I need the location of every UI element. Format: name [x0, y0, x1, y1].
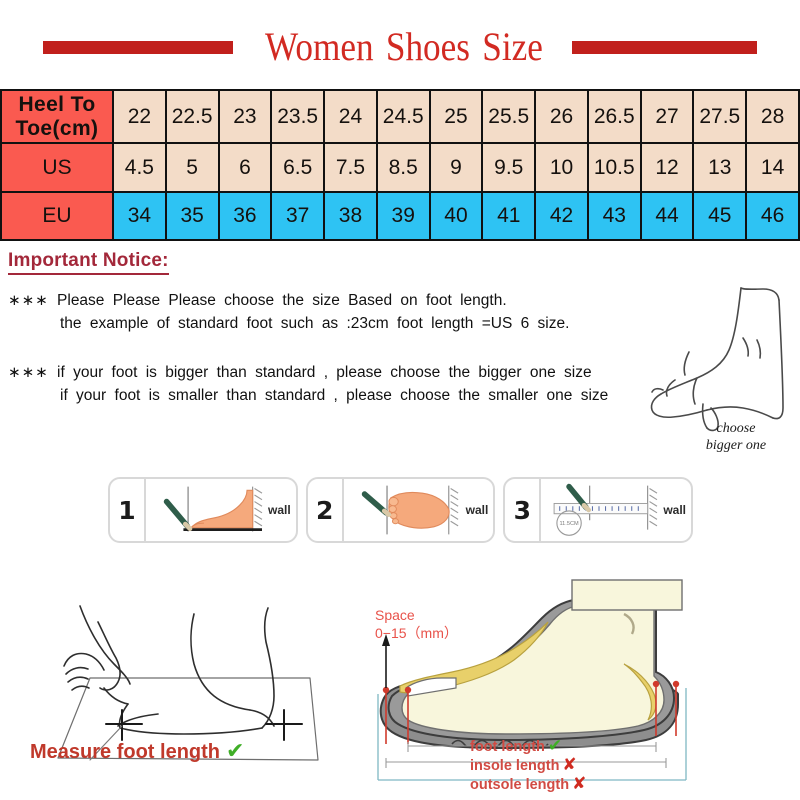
cell-us: 8.5 [377, 143, 430, 192]
cell-cm: 26 [535, 90, 588, 143]
cell-eu: 42 [535, 192, 588, 240]
cell-us: 9.5 [482, 143, 535, 192]
notice-bullet-stars: ∗∗∗ [8, 364, 49, 381]
notice-line: ∗∗∗ if your foot is bigger than standard… [8, 361, 688, 384]
notice-heading: Important Notice: [8, 250, 169, 275]
cell-cm: 28 [746, 90, 799, 143]
legend-label: outsole length [470, 777, 569, 793]
step-3-illustration: 3 [505, 479, 691, 541]
cell-us: 5 [166, 143, 219, 192]
cell-cm: 22.5 [166, 90, 219, 143]
cross-icon: ✘ [562, 755, 576, 774]
cell-us: 10 [535, 143, 588, 192]
caption-line-2: bigger one [706, 438, 766, 453]
notice-text: Please Please Please choose the size Bas… [57, 292, 507, 309]
wall-label: wall [466, 503, 489, 517]
shoe-diagram-legend: foot length✔ insole length✘ outsole leng… [470, 737, 770, 794]
check-icon: ✔ [226, 738, 244, 763]
measurement-steps: 1 wall 2 [108, 477, 693, 543]
row-header-heel-to-toe: Heel To Toe(cm) [1, 90, 113, 143]
cell-eu: 39 [377, 192, 430, 240]
notice-line: ∗∗∗ Please Please Please choose the size… [8, 289, 688, 312]
notice-line: if your foot is smaller than standard , … [8, 384, 688, 407]
title-word-1: Women [265, 24, 374, 69]
step-panel-1: 1 wall [108, 477, 298, 543]
cell-eu: 37 [271, 192, 324, 240]
cell-us: 6.5 [271, 143, 324, 192]
step-number: 2 [308, 479, 344, 541]
wall-label: wall [268, 503, 291, 517]
caption-line-1: choose [717, 421, 756, 436]
check-icon: ✔ [548, 736, 562, 755]
cross-icon: ✘ [572, 774, 586, 793]
cell-cm: 25 [430, 90, 483, 143]
step-number: 3 [505, 479, 541, 541]
cell-eu: 41 [482, 192, 535, 240]
cell-us: 10.5 [588, 143, 641, 192]
row-header-eu: EU [1, 192, 113, 240]
title-rule-left [43, 41, 233, 54]
cell-us: 12 [641, 143, 694, 192]
cell-eu: 36 [219, 192, 272, 240]
title-word-2: Shoes [385, 24, 469, 69]
cell-cm: 25.5 [482, 90, 535, 143]
table-row-eu: EU 34 35 36 37 38 39 40 41 42 43 44 45 4… [1, 192, 799, 240]
notice-bullet-stars: ∗∗∗ [8, 292, 49, 309]
cell-cm: 24.5 [377, 90, 430, 143]
table-row-heel-to-toe: Heel To Toe(cm) 22 22.5 23 23.5 24 24.5 … [1, 90, 799, 143]
measure-caption-text: Measure foot length [30, 741, 220, 763]
space-label-line-2: 0−15（mm） [375, 625, 458, 641]
cell-cm: 27.5 [693, 90, 746, 143]
cell-us: 13 [693, 143, 746, 192]
cell-cm: 22 [113, 90, 166, 143]
cell-eu: 34 [113, 192, 166, 240]
step-panel-2: 2 wall [306, 477, 496, 543]
cell-cm: 24 [324, 90, 377, 143]
notice-text: if your foot is bigger than standard , p… [57, 364, 592, 381]
title-rule-right [572, 41, 757, 54]
ruler-badge-text: 11.5CM [560, 521, 580, 527]
cell-eu: 44 [641, 192, 694, 240]
space-label-line-1: Space [375, 607, 415, 623]
step-1-illustration: wall [146, 479, 296, 541]
cell-eu: 35 [166, 192, 219, 240]
cell-us: 7.5 [324, 143, 377, 192]
cell-eu: 40 [430, 192, 483, 240]
wall-label: wall [663, 503, 686, 517]
page-title: WomenShoesSize [258, 27, 548, 67]
cell-us: 14 [746, 143, 799, 192]
table-row-us: US 4.5 5 6 6.5 7.5 8.5 9 9.5 10 10.5 12 … [1, 143, 799, 192]
notice-block-1: ∗∗∗ Please Please Please choose the size… [8, 289, 688, 335]
important-notice: Important Notice: ∗∗∗ Please Please Plea… [8, 250, 688, 407]
notice-block-2: ∗∗∗ if your foot is bigger than standard… [8, 361, 688, 407]
step-number: 1 [110, 479, 146, 541]
cell-us: 4.5 [113, 143, 166, 192]
legend-row-outsole-length: outsole length✘ [470, 775, 770, 794]
cell-cm: 23.5 [271, 90, 324, 143]
step-panel-3: 3 [503, 477, 693, 543]
title-word-3: Size [482, 24, 543, 69]
legend-row-insole-length: insole length✘ [470, 756, 770, 775]
cell-us: 9 [430, 143, 483, 192]
row-header-us: US [1, 143, 113, 192]
foot-sketch-caption: choose bigger one [676, 420, 796, 454]
legend-label: foot length [470, 739, 545, 755]
cell-eu: 43 [588, 192, 641, 240]
cell-cm: 26.5 [588, 90, 641, 143]
page-title-bar: WomenShoesSize [0, 18, 800, 76]
measure-foot-length-caption: Measure foot length✔ [30, 738, 244, 764]
space-measurement-label: Space 0−15（mm） [375, 606, 458, 642]
legend-row-foot-length: foot length✔ [470, 737, 770, 756]
cell-eu: 38 [324, 192, 377, 240]
cell-cm: 27 [641, 90, 694, 143]
notice-line: the example of standard foot such as :23… [8, 312, 688, 335]
legend-label: insole length [470, 758, 559, 774]
cell-us: 6 [219, 143, 272, 192]
cell-cm: 23 [219, 90, 272, 143]
step-2-illustration: wall [344, 479, 494, 541]
size-conversion-table: Heel To Toe(cm) 22 22.5 23 23.5 24 24.5 … [0, 89, 800, 241]
cell-eu: 45 [693, 192, 746, 240]
cell-eu: 46 [746, 192, 799, 240]
